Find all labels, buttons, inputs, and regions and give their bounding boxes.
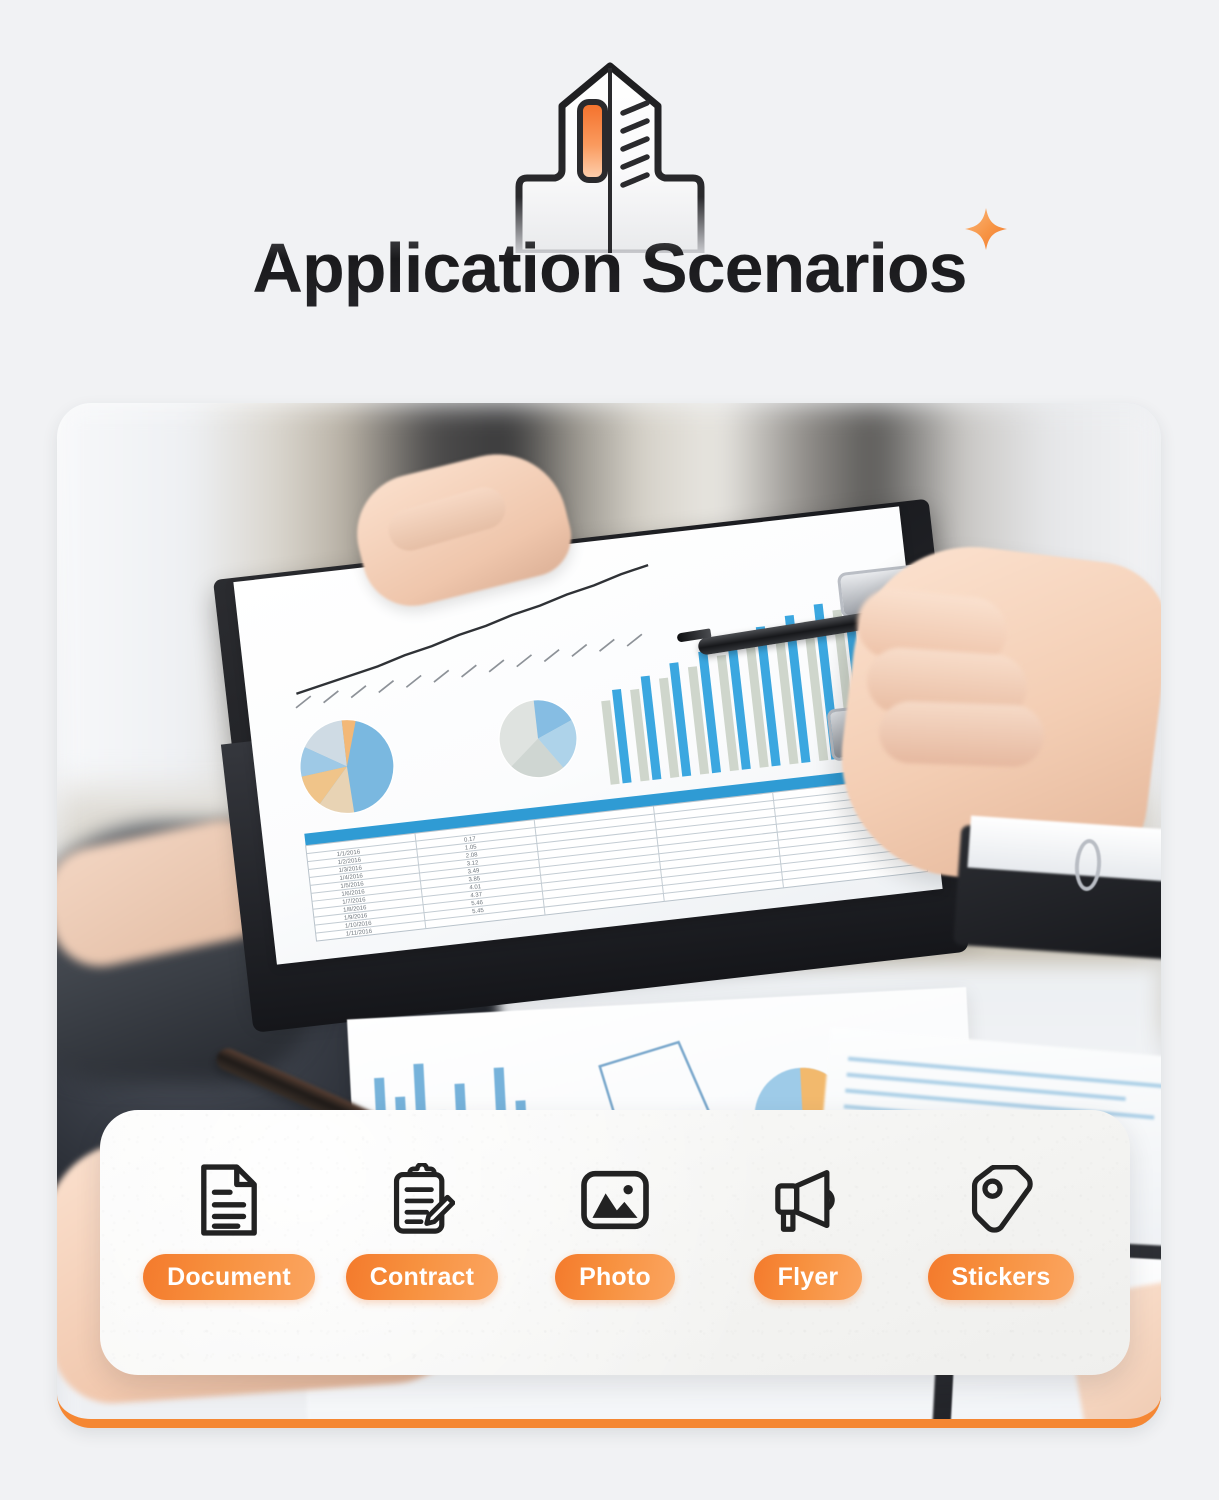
price-tag-icon bbox=[967, 1162, 1035, 1238]
scenario-item-document[interactable]: Document bbox=[136, 1162, 322, 1300]
scenario-panel: Document bbox=[100, 1110, 1130, 1375]
scenario-label-photo[interactable]: Photo bbox=[555, 1254, 675, 1300]
page-title-row: Application Scenarios bbox=[0, 232, 1219, 306]
scenario-item-photo[interactable]: Photo bbox=[522, 1162, 708, 1300]
scenario-label-document[interactable]: Document bbox=[143, 1254, 315, 1300]
page-root: Application Scenarios bbox=[0, 0, 1219, 1500]
page-title: Application Scenarios bbox=[252, 229, 966, 307]
scenario-item-contract[interactable]: Contract bbox=[329, 1162, 515, 1300]
document-icon bbox=[198, 1162, 260, 1238]
sparkle-icon bbox=[963, 206, 1009, 252]
scenario-label-flyer[interactable]: Flyer bbox=[754, 1254, 863, 1300]
tower-window bbox=[580, 102, 605, 180]
scenario-list: Document bbox=[100, 1162, 1130, 1300]
image-icon bbox=[579, 1162, 651, 1238]
scenario-label-stickers[interactable]: Stickers bbox=[928, 1254, 1075, 1300]
clipboard-pen-icon bbox=[389, 1162, 455, 1238]
header: Application Scenarios bbox=[0, 0, 1219, 390]
scenario-item-flyer[interactable]: Flyer bbox=[715, 1162, 901, 1300]
scenario-label-contract[interactable]: Contract bbox=[346, 1254, 498, 1300]
building-tower-icon bbox=[495, 58, 725, 253]
megaphone-icon bbox=[770, 1162, 846, 1238]
scenario-item-stickers[interactable]: Stickers bbox=[908, 1162, 1094, 1300]
photo-reviewer-finger-3 bbox=[878, 700, 1045, 768]
